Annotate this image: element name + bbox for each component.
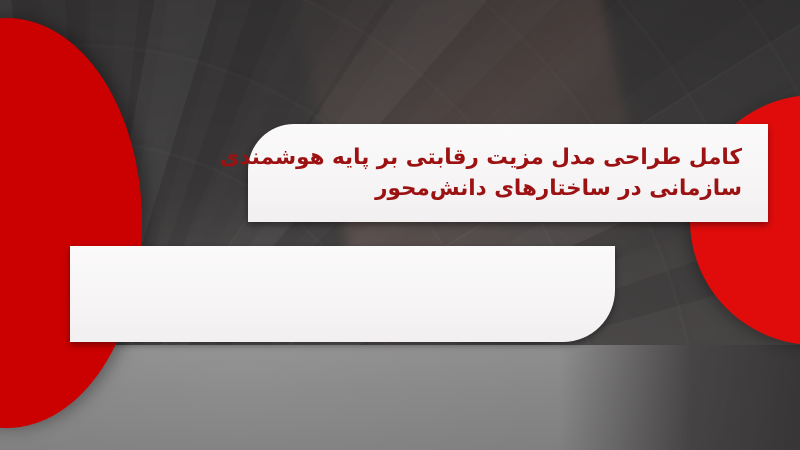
content-panel[interactable] — [70, 246, 615, 342]
title-panel[interactable]: کامل طراحی مدل مزیت رقابتی بر پایه هوشمن… — [248, 124, 768, 222]
title-line-1: کامل طراحی مدل مزیت رقابتی بر پایه هوشمن… — [274, 143, 742, 174]
content-panel-text — [70, 246, 615, 342]
presentation-slide: کامل طراحی مدل مزیت رقابتی بر پایه هوشمن… — [0, 0, 800, 450]
title-line-2: سازمانی در ساختارهای دانش‌محور — [274, 174, 742, 205]
